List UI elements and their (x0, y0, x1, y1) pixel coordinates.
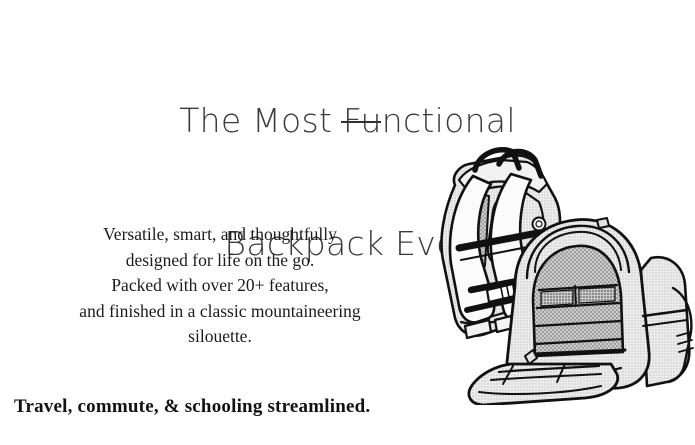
body-line-3: Packed with over 20+ features, (14, 273, 426, 299)
body-paragraph: Versatile, smart, and thoughtfully desig… (14, 222, 426, 350)
promo-banner: The Most Functional Backpack Ever Versat… (0, 0, 695, 445)
body-line-1: Versatile, smart, and thoughtfully (14, 222, 426, 248)
body-line-5: silouette. (14, 324, 426, 350)
body-line-4: and finished in a classic mountaineering (14, 299, 426, 325)
backpack-product-illustration (415, 140, 695, 405)
heading-divider-rule (341, 121, 381, 123)
body-line-2: designed for life on the go. (14, 248, 426, 274)
tagline: Travel, commute, & schooling streamlined… (14, 395, 370, 419)
